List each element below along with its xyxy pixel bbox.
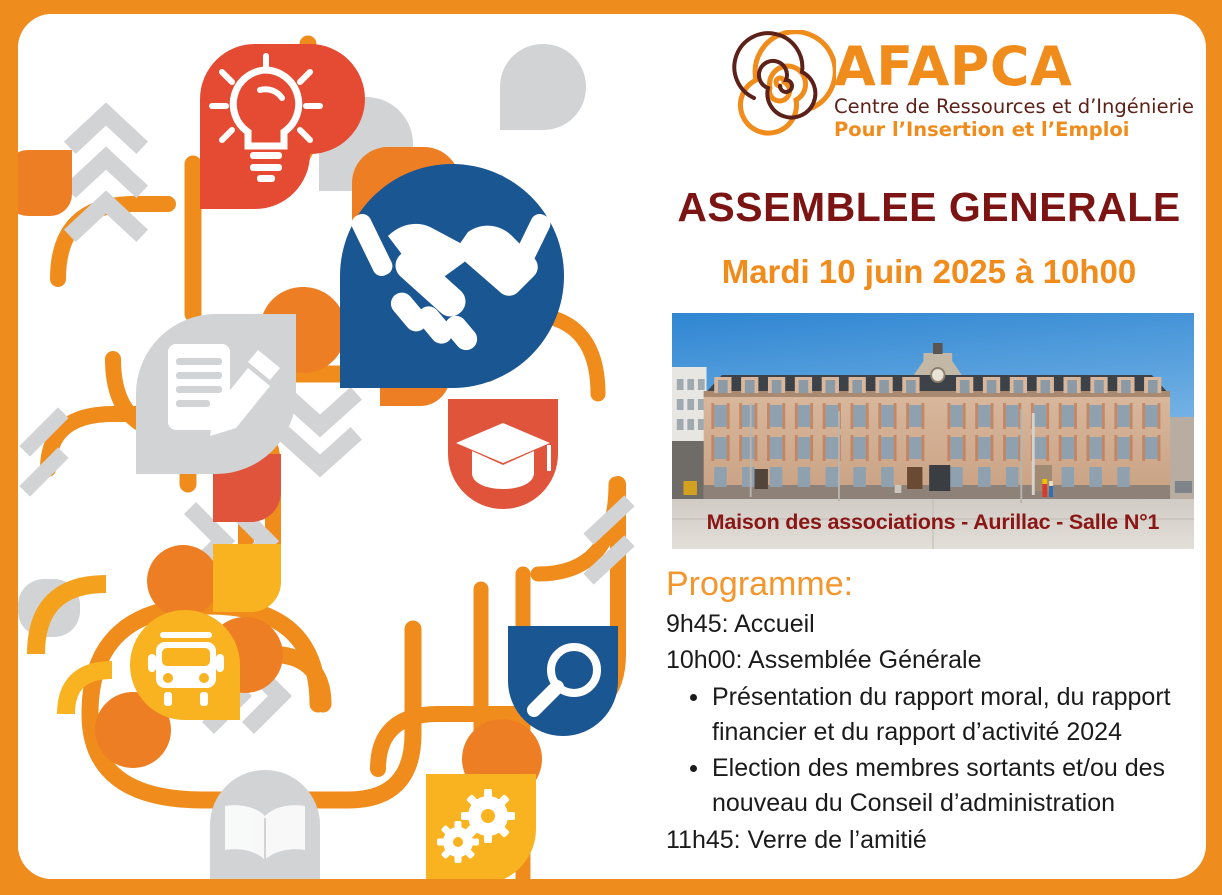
venue-caption: Maison des associations - Aurillac - Sal…: [672, 510, 1194, 535]
poster-frame: AFAPCA Centre de Ressources et d’Ingénie…: [0, 0, 1222, 895]
venue-photo-block: Maison des associations - Aurillac - Sal…: [672, 313, 1194, 549]
programme-line-assembly: 10h00: Assemblée Générale: [666, 645, 1200, 676]
programme-line-closing: 11h45: Verre de l’amitié: [666, 825, 1200, 856]
afapca-logo-text: AFAPCA Centre de Ressources et d’Ingénie…: [834, 26, 1194, 139]
list-item: Présentation du rapport moral, du rappor…: [710, 680, 1200, 749]
afapca-logo: AFAPCA Centre de Ressources et d’Ingénie…: [658, 26, 1200, 158]
programme-title: Programme:: [666, 565, 1200, 604]
content-panel: AFAPCA Centre de Ressources et d’Ingénie…: [646, 14, 1206, 879]
logo-title: AFAPCA: [834, 40, 1194, 94]
list-item: Election des membres sortants et/ou des …: [710, 751, 1200, 820]
insertion-emploi-icon-collage: [18, 14, 648, 879]
event-date: Mardi 10 juin 2025 à 10h00: [658, 253, 1200, 291]
logo-subtitle-1: Centre de Ressources et d’Ingénierie: [834, 97, 1194, 117]
afapca-spiral-logo-icon: [724, 30, 836, 142]
poster-card: AFAPCA Centre de Ressources et d’Ingénie…: [18, 14, 1206, 879]
page-title: ASSEMBLEE GENERALE: [658, 184, 1200, 231]
logo-subtitle-2: Pour l’Insertion et l’Emploi: [834, 120, 1194, 140]
programme-bullet-list: Présentation du rapport moral, du rappor…: [658, 680, 1200, 820]
programme-line-welcome: 9h45: Accueil: [666, 609, 1200, 640]
